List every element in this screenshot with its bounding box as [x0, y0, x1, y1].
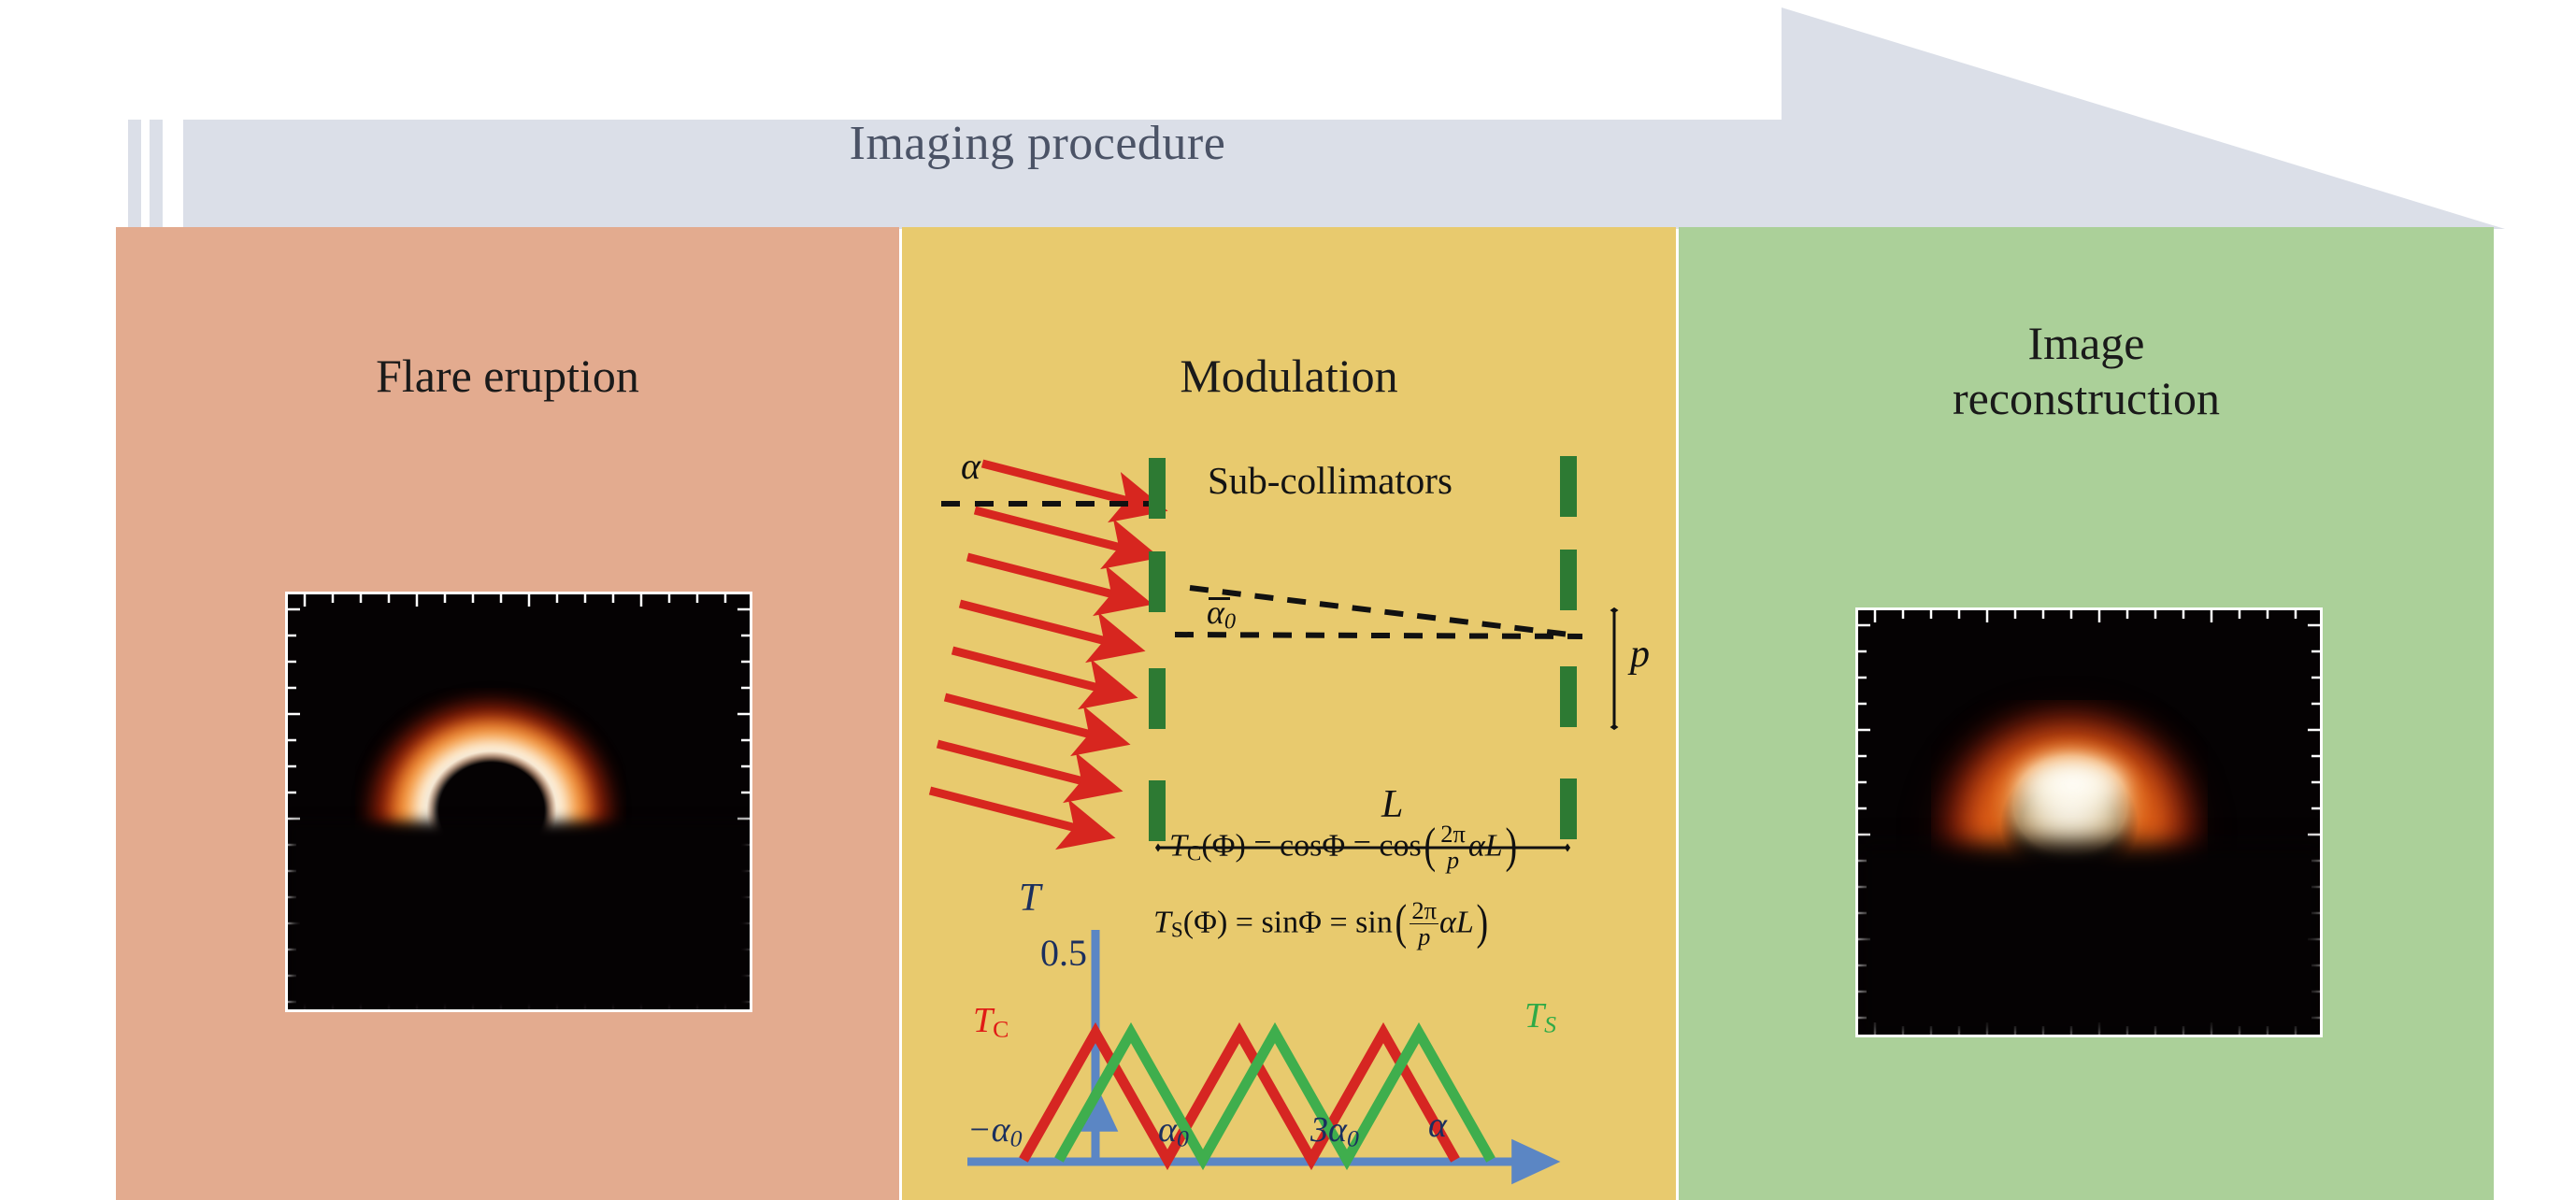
legend-TC-symbol: T: [973, 1001, 993, 1040]
eq-sin-fraction: 2πp: [1410, 898, 1438, 950]
banner-title: Imaging procedure: [523, 120, 1552, 168]
legend-label-TS: TS: [1524, 998, 1556, 1037]
x-tick-neg-alpha0-sub: 0: [1010, 1125, 1023, 1152]
reconstruction-image-border: [1855, 607, 2323, 1037]
eq-cos-frac-num: 2π: [1438, 821, 1467, 848]
flare-image-border: [285, 592, 752, 1012]
eq-cos-close-paren: ): [1505, 821, 1517, 871]
panel-title-reconstruction-line1: Image: [1679, 316, 2494, 371]
eq-cos-body: (Φ) = cosΦ = cos: [1201, 828, 1421, 863]
x-tick-label-alpha0: α0: [1158, 1112, 1189, 1151]
legend-TS-subscript: S: [1544, 1011, 1556, 1038]
rear-collimator-grid: [1560, 456, 1577, 839]
eq-cos-arg-tail: αL: [1468, 828, 1503, 863]
eq-sin-arg-tail: αL: [1439, 905, 1474, 939]
front-collimator-grid: [1149, 458, 1166, 841]
x-tick-alpha0-symbol: α: [1158, 1110, 1177, 1150]
x-tick-label-neg-alpha0: −α0: [967, 1112, 1023, 1151]
panel-title-reconstruction-line2: reconstruction: [1679, 371, 2494, 426]
alpha0-subscript: 0: [1224, 608, 1236, 634]
legend-TC-subscript: C: [993, 1016, 1009, 1043]
eq-cos-open-paren: (: [1424, 821, 1436, 871]
reconstruction-image: [1855, 607, 2323, 1037]
x-tick-alpha0-sub: 0: [1177, 1125, 1189, 1152]
incoming-angle-alpha-label: α: [961, 448, 980, 485]
equation-sine-transmission: TS(Φ) = sinΦ = sin(2πpαL): [1153, 899, 1490, 950]
eq-cos-frac-den: p: [1438, 848, 1467, 873]
x-tick-3alpha0-sub: 0: [1347, 1125, 1359, 1152]
equation-cosine-transmission: TC(Φ) = cosΦ = cos(2πpαL): [1169, 822, 1519, 874]
figure-root: Imaging procedure Flare eruption Modulat…: [0, 0, 2576, 1200]
modulation-diagram: [902, 227, 1676, 1200]
panel-title-flare: Flare eruption: [116, 349, 899, 404]
legend-TS-symbol: T: [1524, 996, 1544, 1036]
eq-sin-open-paren: (: [1395, 898, 1407, 948]
y-axis-tick-label-0point5: 0.5: [1040, 935, 1087, 972]
pitch-angle-alpha0-label: α0: [1207, 595, 1236, 634]
x-axis-label-alpha: α: [1428, 1107, 1447, 1143]
flare-source-image: [285, 592, 752, 1012]
eq-sin-lhs: T: [1153, 905, 1171, 939]
sub-collimators-label: Sub-collimators: [1208, 462, 1453, 500]
eq-sin-close-paren: ): [1476, 898, 1488, 948]
alpha0-lower-dashed-line: [1175, 635, 1582, 636]
eq-cos-lhs-sub: C: [1187, 841, 1201, 865]
legend-label-TC: TC: [973, 1003, 1009, 1042]
panel-title-reconstruction: Image reconstruction: [1679, 316, 2494, 426]
separation-L-label: L: [1381, 785, 1403, 824]
eq-sin-frac-num: 2π: [1410, 898, 1438, 924]
alpha0-overbar: [1209, 597, 1230, 600]
x-tick-label-3alpha0: 3α0: [1310, 1112, 1359, 1151]
alpha0-upper-dashed-line: [1190, 588, 1569, 635]
eq-sin-body: (Φ) = sinΦ = sin: [1183, 905, 1393, 939]
x-tick-neg-alpha0-symbol: −α: [967, 1110, 1010, 1150]
pitch-p-label: p: [1630, 635, 1650, 674]
y-axis-label-T: T: [1019, 879, 1040, 918]
incoming-xray-rays: [930, 464, 1139, 831]
x-tick-3alpha0-symbol: 3α: [1310, 1110, 1347, 1150]
eq-cos-lhs: T: [1169, 828, 1187, 863]
eq-cos-fraction: 2πp: [1438, 821, 1467, 873]
eq-sin-lhs-sub: S: [1171, 918, 1183, 942]
eq-sin-frac-den: p: [1410, 924, 1438, 950]
